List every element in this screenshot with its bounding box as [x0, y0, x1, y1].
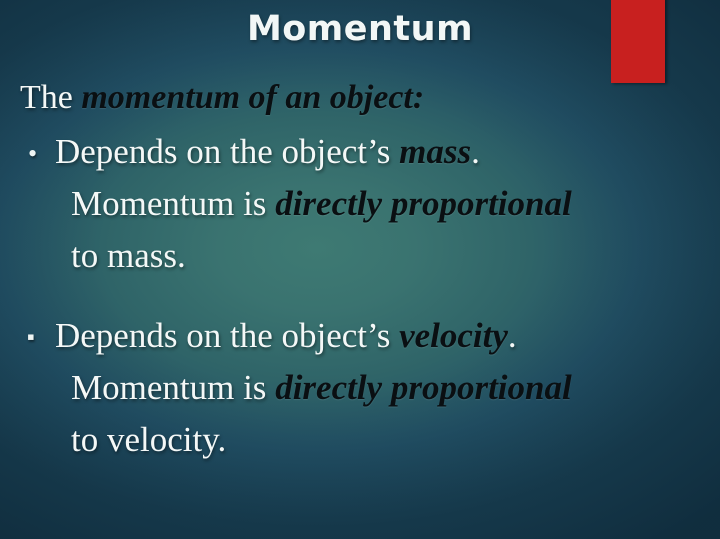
bullet-line: to velocity.: [55, 414, 720, 466]
bullet-text-segment: to mass.: [71, 236, 186, 275]
bullet-line: Depends on the object’s velocity.: [55, 310, 720, 362]
bullet-square-icon: ▪: [27, 311, 35, 363]
presentation-slide: Momentum The momentum of an object: • De…: [0, 0, 720, 539]
bullet-emphasis-segment: velocity: [399, 316, 508, 355]
bullet-text-segment: Momentum is: [71, 368, 275, 407]
bullet-line: Momentum is directly proportional: [55, 178, 720, 230]
bullet-text-segment: .: [471, 132, 480, 171]
bullet-line: to mass.: [55, 230, 720, 282]
lead-plain-text: The: [20, 79, 81, 116]
bullet-text-segment: .: [508, 316, 517, 355]
bullet-emphasis-segment: mass: [399, 132, 471, 171]
bullet-emphasis-segment: directly proportional: [275, 184, 572, 223]
slide-body: The momentum of an object: • Depends on …: [0, 76, 720, 466]
bullet-line: Depends on the object’s mass.: [55, 126, 720, 178]
lead-emphasis-text: momentum of an object:: [81, 79, 424, 116]
accent-bar-decoration: [611, 0, 665, 83]
bullet-block-velocity: ▪ Depends on the object’s velocity. Mome…: [0, 310, 720, 466]
bullet-dot-icon: •: [28, 128, 37, 180]
bullet-emphasis-segment: directly proportional: [275, 368, 572, 407]
bullet-text-segment: Depends on the object’s: [55, 316, 399, 355]
bullet-block-mass: • Depends on the object’s mass. Momentum…: [0, 126, 720, 282]
bullet-text-segment: Momentum is: [71, 184, 275, 223]
bullet-text-segment: to velocity.: [71, 420, 226, 459]
bullet-line: Momentum is directly proportional: [55, 362, 720, 414]
bullet-text-segment: Depends on the object’s: [55, 132, 399, 171]
